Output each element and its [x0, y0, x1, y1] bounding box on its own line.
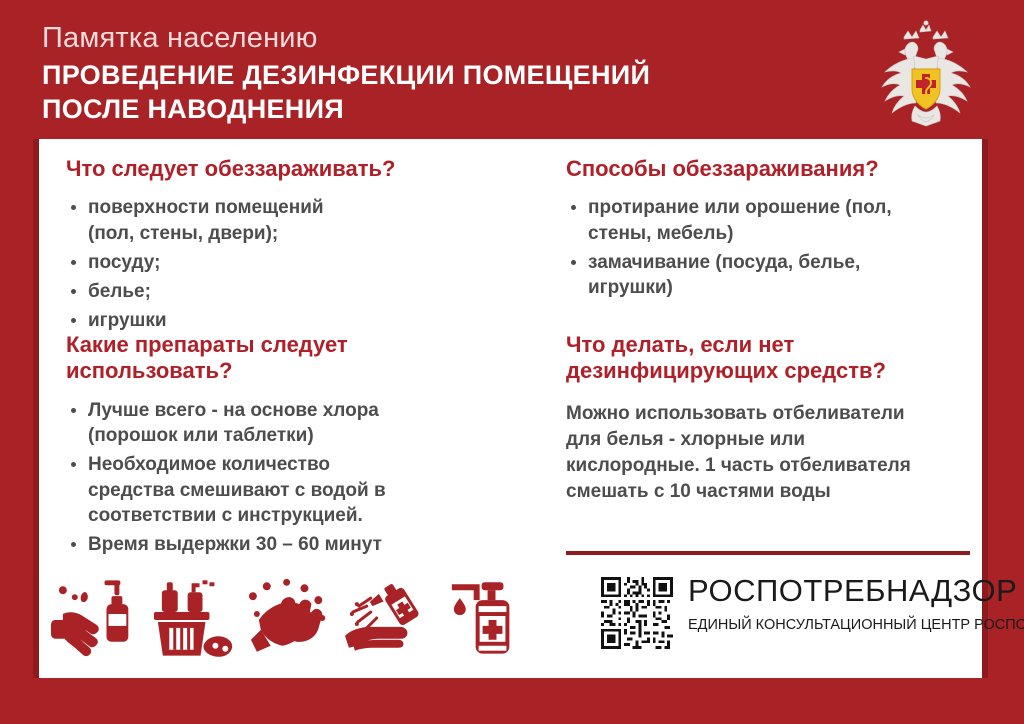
list-item-line: игрушки — [88, 308, 536, 333]
page-title: ПРОВЕДЕНИЕ ДЕЗИНФЕКЦИИ ПОМЕЩЕНИЙ ПОСЛЕ Н… — [42, 58, 650, 126]
list-item-line: игрушки) — [588, 275, 976, 300]
list-item: замачивание (посуда, белье, игрушки) — [566, 250, 976, 301]
pictogram-row — [49, 564, 529, 669]
brand-subtitle: ЕДИНЫЙ КОНСУЛЬТАЦИОННЫЙ ЦЕНТР РОСПОТРЕБН… — [688, 615, 1024, 636]
brand-subtitle-org: РОСПОТРЕБНАДЗОРА — [974, 617, 1024, 633]
list-item: Время выдержки 30 – 60 минут — [66, 532, 536, 557]
handwash-soap-dispenser-icon — [49, 574, 140, 660]
sanitizer-bottle-cross-icon — [438, 574, 529, 660]
page-title-line-1: ПРОВЕДЕНИЕ ДЕЗИНФЕКЦИИ ПОМЕЩЕНИЙ — [42, 58, 650, 92]
paragraph-line: Можно использовать отбеливатели — [566, 401, 976, 427]
list-item-line: посуду; — [88, 250, 536, 275]
brand-subtitle-line-2: РОСПОТРЕБНАДЗОРА 8-800-555-49-43 — [974, 617, 1024, 633]
list-item-line: Лучше всего - на основе хлора — [88, 398, 536, 423]
list-item-line: (порошок или таблетки) — [88, 423, 536, 448]
paragraph-line: для белья - хлорные или — [566, 427, 976, 453]
list-item-line: Необходимое количество — [88, 452, 536, 477]
qr-code[interactable] — [601, 577, 673, 649]
section-title-text: Что следует обеззараживать? — [66, 156, 536, 182]
list-what-to-disinfect: поверхности помещений (пол, стены, двери… — [66, 195, 536, 333]
footer-divider — [566, 551, 970, 555]
section-title-line: дезинфицирующих средств? — [566, 358, 976, 384]
section-title-no-products: Что делать, если нет дезинфицирующих сре… — [566, 332, 976, 385]
section-title-text: Способы обеззараживания? — [566, 156, 976, 182]
hands-cleaning-cloth-icon — [243, 574, 334, 660]
bucket-bottles-sponge-icon — [146, 574, 237, 660]
list-item-line: белье; — [88, 279, 536, 304]
list-item: протирание или орошение (пол, стены, меб… — [566, 195, 976, 246]
list-methods: протирание или орошение (пол, стены, меб… — [566, 195, 976, 300]
content-card: Что следует обеззараживать? поверхности … — [33, 139, 988, 678]
list-item-line: стены, мебель) — [588, 221, 976, 246]
list-which-products: Лучше всего - на основе хлора (порошок и… — [66, 398, 536, 558]
section-methods: Способы обеззараживания? протирание или … — [566, 156, 976, 304]
list-item-line: поверхности помещений — [88, 195, 536, 220]
section-title-line: использовать? — [66, 358, 536, 384]
section-title-line: Какие препараты следует — [66, 332, 536, 358]
header-kicker: Памятка населению — [42, 22, 318, 55]
list-item: игрушки — [66, 308, 536, 333]
poster-header: Памятка населению ПРОВЕДЕНИЕ ДЕЗИНФЕКЦИИ… — [0, 0, 1024, 139]
footer-brand: РОСПОТРЕБНАДЗОР ЕДИНЫЙ КОНСУЛЬТАЦИОННЫЙ … — [566, 571, 970, 666]
list-item: Необходимое количество средства смешиваю… — [66, 452, 536, 528]
list-item: поверхности помещений (пол, стены, двери… — [66, 195, 536, 246]
brand-name: РОСПОТРЕБНАДЗОР — [688, 573, 1017, 609]
section-title-what-to-disinfect: Что следует обеззараживать? — [66, 156, 536, 182]
section-no-products: Что делать, если нет дезинфицирующих сре… — [566, 332, 976, 506]
paragraph-no-products: Можно использовать отбеливатели для бель… — [566, 401, 976, 506]
list-item-line: протирание или орошение (пол, — [588, 195, 976, 220]
paragraph-line: кислородные. 1 часть отбеливателя — [566, 453, 976, 479]
spray-bottle-hand-icon — [341, 574, 432, 660]
section-title-line: Что делать, если нет — [566, 332, 976, 358]
list-item-line: соответствии с инструкцией. — [88, 503, 536, 528]
section-title-which-products: Какие препараты следует использовать? — [66, 332, 536, 385]
list-item: белье; — [66, 279, 536, 304]
list-item-line: Время выдержки 30 – 60 минут — [88, 532, 536, 557]
list-item-line: замачивание (посуда, белье, — [588, 250, 976, 275]
list-item: посуду; — [66, 250, 536, 275]
list-item: Лучше всего - на основе хлора (порошок и… — [66, 398, 536, 449]
page-title-line-2: ПОСЛЕ НАВОДНЕНИЯ — [42, 92, 650, 126]
poster-root: Памятка населению ПРОВЕДЕНИЕ ДЕЗИНФЕКЦИИ… — [0, 0, 1024, 724]
list-item-line: (пол, стены, двери); — [88, 221, 536, 246]
section-what-to-disinfect: Что следует обеззараживать? поверхности … — [66, 156, 536, 338]
section-which-products: Какие препараты следует использовать? Лу… — [66, 332, 536, 561]
brand-subtitle-line-1: ЕДИНЫЙ КОНСУЛЬТАЦИОННЫЙ ЦЕНТР — [688, 617, 970, 633]
paragraph-line: смешать с 10 частями воды — [566, 479, 976, 505]
section-title-methods: Способы обеззараживания? — [566, 156, 976, 182]
rospotrebnadzor-eagle-emblem — [870, 20, 982, 128]
list-item-line: средства смешивают с водой в — [88, 478, 536, 503]
